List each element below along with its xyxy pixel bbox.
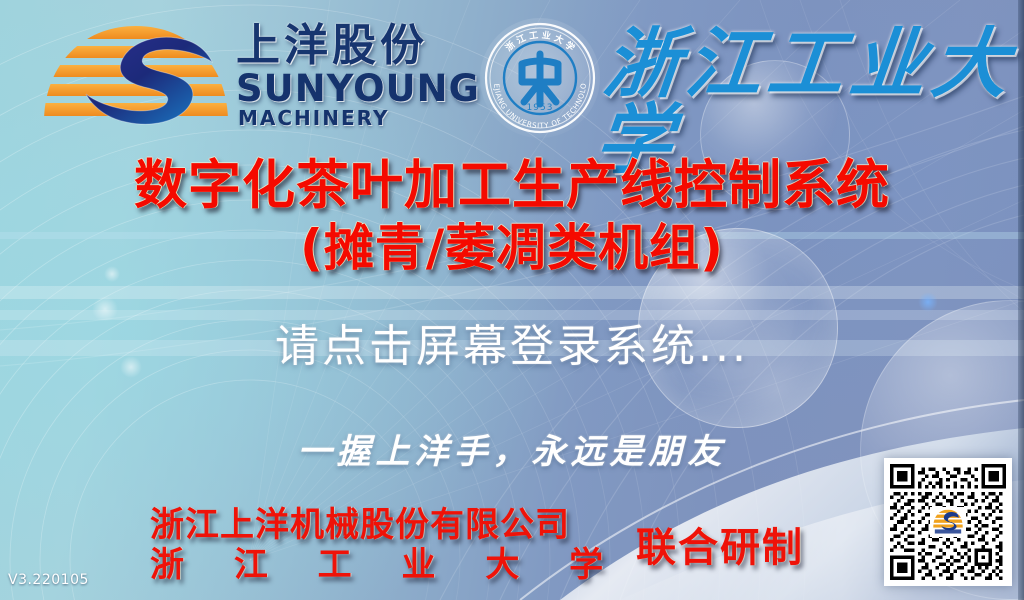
company-name-en: SUNYOUNG — [236, 70, 480, 107]
login-prompt-text[interactable]: 请点击屏幕登录系统... — [0, 310, 1024, 374]
company-slogan: 一握上洋手，永远是朋友 — [0, 424, 1024, 473]
footer: 浙江上洋机械股份有限公司 浙 江 工 业 大 学 联合研制 — [0, 498, 1024, 588]
header: 上洋股份 SUNYOUNG MACHINERY — [0, 0, 1024, 150]
qr-code[interactable] — [884, 458, 1012, 586]
page-title-line1: 数字化茶叶加工生产线控制系统 — [0, 158, 1024, 213]
footer-company-name: 浙江上洋机械股份有限公司 — [150, 508, 670, 542]
footer-university-name: 浙 江 工 业 大 学 — [150, 548, 670, 582]
background-glow-dot — [918, 292, 938, 312]
svg-text:1953: 1953 — [527, 103, 554, 113]
version-label: V3.220105 — [8, 572, 89, 588]
splash-screen[interactable]: 上洋股份 SUNYOUNG MACHINERY — [0, 0, 1024, 600]
background-band — [0, 286, 1024, 299]
company-name-cn: 上洋股份 — [236, 24, 428, 68]
footer-joint-development-label: 联合研制 — [636, 528, 804, 568]
sunyoung-sun-s-logo-icon — [38, 18, 234, 138]
page-title-line2: (摊青/萎凋类机组) — [0, 222, 1024, 274]
sunyoung-mini-logo-icon — [930, 507, 966, 537]
zhejiang-university-of-technology-seal-icon: 浙 江 工 业 大 学 ZHEJIANG UNIVERSITY OF TECHN… — [478, 12, 602, 140]
company-name-sub: MACHINERY — [238, 108, 389, 128]
